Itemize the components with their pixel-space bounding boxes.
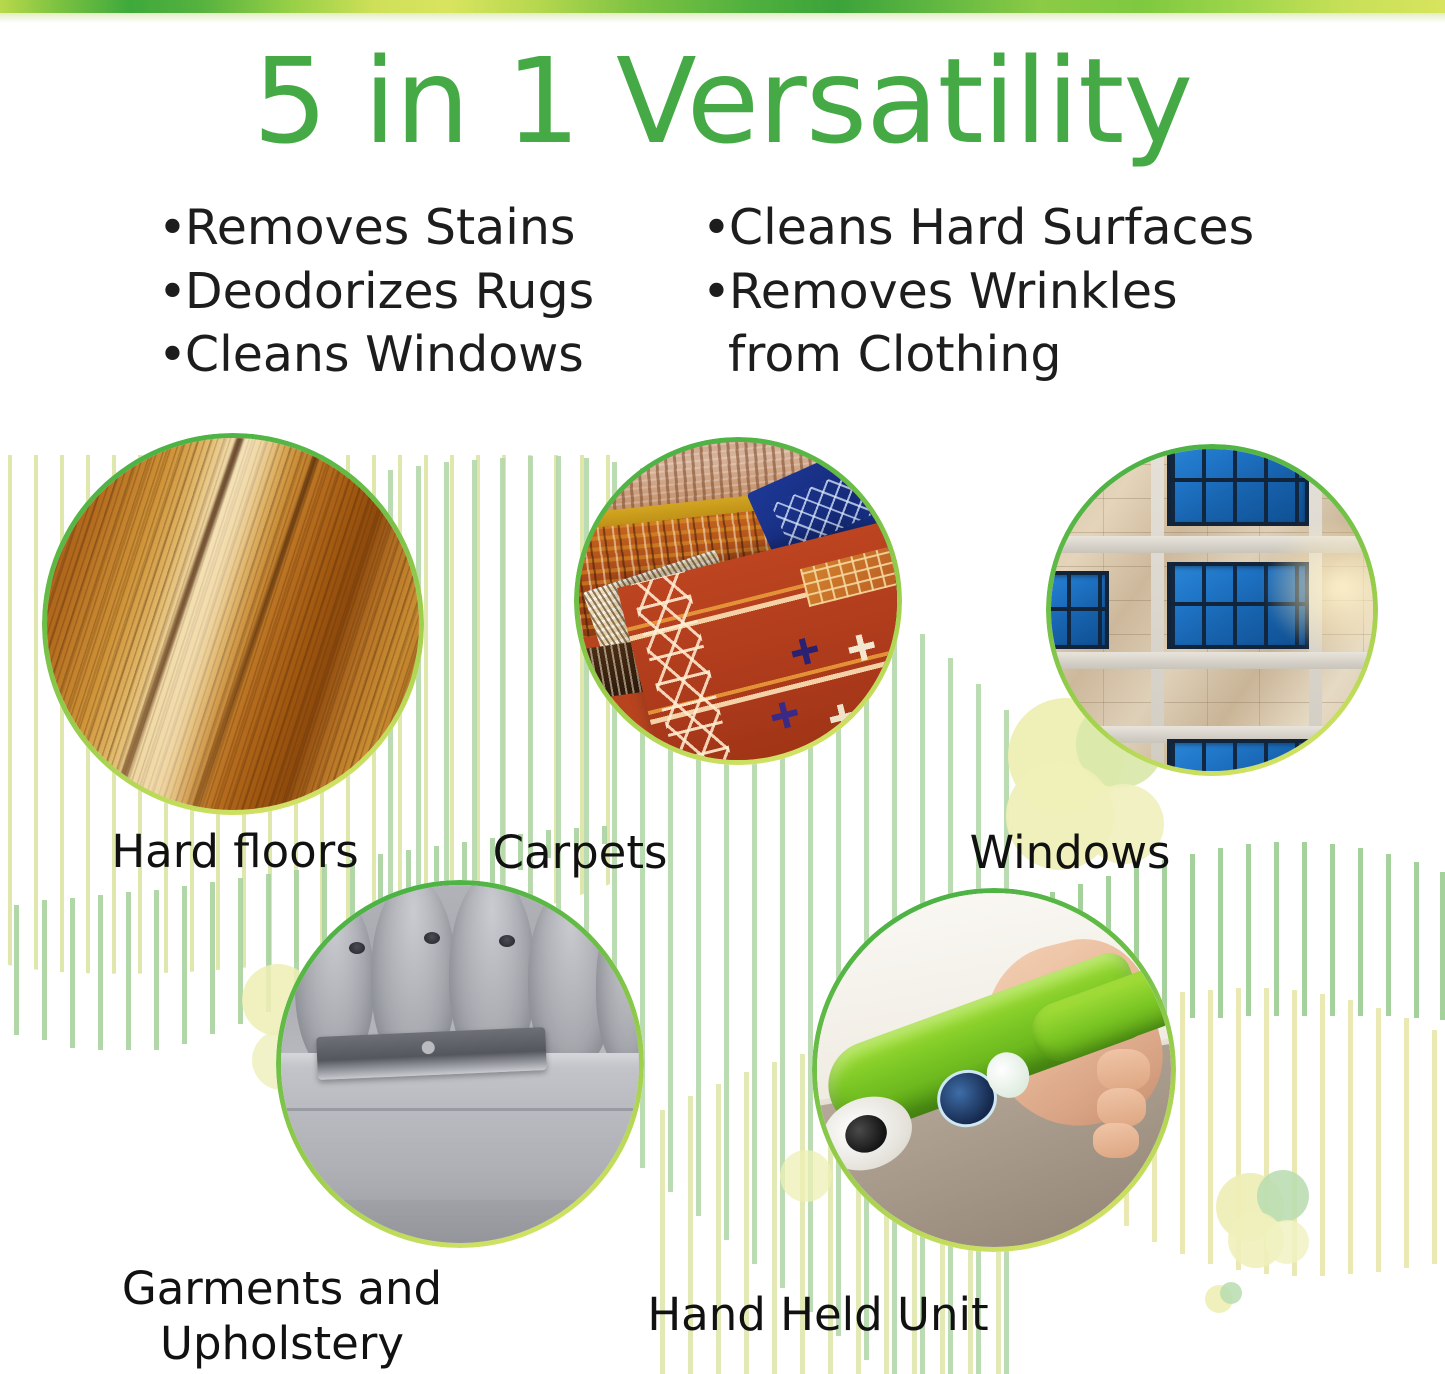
feature-lists: •Removes Stains •Deodorizes Rugs •Cleans… (0, 196, 1445, 387)
carpets-photo (579, 442, 897, 760)
bullet-icon: • (158, 199, 185, 256)
tile-ring (812, 888, 1176, 1252)
bullet-icon: • (158, 263, 185, 320)
feature-list-left: •Removes Stains •Deodorizes Rugs •Cleans… (158, 196, 678, 387)
tile-image-carpets (574, 437, 902, 765)
tile-ring (1046, 444, 1378, 776)
tile-caption-hand-held-unit: Hand Held Unit (638, 1288, 998, 1343)
tile-ring (276, 880, 644, 1248)
bullet-icon: • (702, 263, 729, 320)
bullet-icon: • (702, 199, 729, 256)
feature-label: Removes Wrinkles (729, 263, 1178, 320)
tile-image-windows (1046, 444, 1378, 776)
feature-item-deodorizes-rugs: •Deodorizes Rugs (158, 260, 678, 324)
handheld-steamer-photo (817, 893, 1171, 1247)
feature-label: Deodorizes Rugs (185, 263, 594, 320)
upholstery-sofa-photo (281, 885, 639, 1243)
blob-cluster-bottom-right (1205, 1170, 1309, 1313)
feature-label: Removes Stains (185, 199, 576, 256)
top-accent-bar (0, 0, 1445, 13)
page-title: 5 in 1 Versatility (0, 42, 1445, 160)
tile-image-garments-upholstery (276, 880, 644, 1248)
tile-image-hand-held-unit (812, 888, 1176, 1252)
feature-label: Cleans Hard Surfaces (729, 199, 1254, 256)
tile-garments-upholstery[interactable] (276, 880, 644, 1248)
tile-windows[interactable] (1046, 444, 1378, 776)
tile-caption-hard-floors: Hard floors (25, 825, 445, 880)
feature-item-removes-stains: •Removes Stains (158, 196, 678, 260)
bullet-icon: • (158, 326, 185, 383)
tile-ring (42, 433, 424, 815)
tile-hard-floors[interactable] (42, 433, 424, 815)
feature-item-cleans-windows: •Cleans Windows (158, 323, 678, 387)
tile-image-hard-floors (42, 433, 424, 815)
feature-list-right: •Cleans Hard Surfaces •Removes Wrinkles … (702, 196, 1322, 387)
tile-ring (574, 437, 902, 765)
top-accent-bar-fade (0, 13, 1445, 23)
feature-label: Cleans Windows (185, 326, 584, 383)
tile-carpets[interactable] (574, 437, 902, 765)
feature-item-removes-wrinkles: •Removes Wrinkles (702, 260, 1322, 324)
tile-caption-windows: Windows (905, 826, 1235, 881)
feature-item-cleans-hard-surfaces: •Cleans Hard Surfaces (702, 196, 1322, 260)
tile-caption-carpets: Carpets (420, 826, 740, 881)
building-windows-photo (1051, 449, 1373, 771)
tile-caption-garments-upholstery: Garments and Upholstery (102, 1262, 462, 1372)
feature-item-continuation: from Clothing (702, 323, 1322, 387)
tile-hand-held-unit[interactable] (812, 888, 1176, 1252)
hardwood-floor-photo (47, 438, 419, 810)
